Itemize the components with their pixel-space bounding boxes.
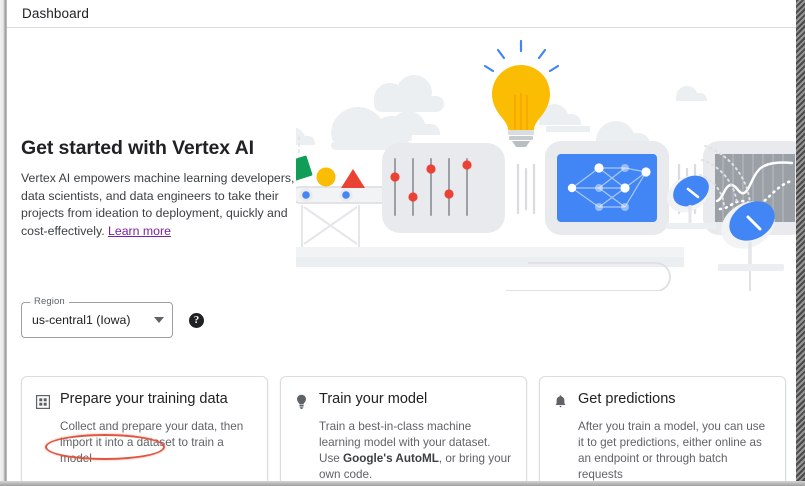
- signal-arcs-icon: [700, 146, 750, 205]
- conveyor-belt-icon: [296, 187, 398, 250]
- card-title: Prepare your training data: [60, 390, 228, 409]
- connector-bars-1: [518, 165, 534, 213]
- chart-panel-icon: [703, 141, 796, 235]
- card-title: Get predictions: [578, 390, 676, 409]
- card-head: Prepare your training data: [35, 390, 252, 410]
- card-title: Train your model: [319, 390, 427, 409]
- cloud-right-icon: [539, 104, 581, 125]
- card-body: Prepare your training data Collect and p…: [22, 377, 267, 481]
- hero-text-block: Get started with Vertex AI Vertex AI emp…: [21, 137, 297, 240]
- help-question-icon[interactable]: ?: [189, 313, 204, 328]
- lightbulb-icon: [492, 65, 550, 147]
- red-triangle-shape: [341, 169, 365, 188]
- card-head: Get predictions: [553, 390, 770, 410]
- card-description: Train a best-in-class machine learning m…: [319, 419, 511, 481]
- bell-icon: [553, 393, 568, 410]
- region-selected-value: us-central1 (Iowa): [32, 313, 154, 327]
- lightbulb-rays-icon: [485, 41, 558, 71]
- window-bottom-edge: [0, 481, 805, 486]
- cloud-large-icon: [331, 107, 412, 141]
- green-diamond-shape: [296, 155, 313, 181]
- satellite-dish-large-icon: [713, 192, 784, 271]
- card-description: After you train a model, you can use it …: [578, 419, 770, 481]
- table-grid-icon: [35, 393, 50, 410]
- vertex-ai-dashboard-page: Dashboard Get started with Vertex AI Ver…: [0, 0, 805, 486]
- region-selector-row: Region us-central1 (Iowa) ?: [7, 291, 796, 349]
- window-left-edge: [0, 0, 7, 486]
- region-select[interactable]: Region us-central1 (Iowa): [21, 302, 173, 338]
- learn-more-link[interactable]: Learn more: [108, 224, 171, 238]
- neural-network-panel-icon: [545, 141, 669, 235]
- page-title: Dashboard: [7, 6, 89, 21]
- card-body: Get predictions After you train a model,…: [540, 377, 785, 481]
- card-get-predictions: Get predictions After you train a model,…: [539, 376, 786, 481]
- window-right-edge: [796, 0, 805, 486]
- cloud-shapes-icon: [306, 75, 444, 229]
- card-head: Train your model: [294, 390, 511, 410]
- card-description-bold: Google's AutoML: [343, 452, 439, 465]
- lightbulb-icon: [294, 393, 309, 410]
- card-body: Train your model Train a best-in-class m…: [281, 377, 526, 481]
- chevron-down-icon: [154, 317, 164, 323]
- satellite-dish-small-icon: [660, 168, 716, 229]
- getting-started-cards: Prepare your training data Collect and p…: [21, 376, 787, 481]
- hero-section: Get started with Vertex AI Vertex AI emp…: [7, 29, 796, 291]
- wire-path-1: [506, 263, 670, 291]
- wire-path-2: [520, 271, 750, 291]
- platform-base: [296, 247, 684, 263]
- card-train-your-model: Train your model Train a best-in-class m…: [280, 376, 527, 481]
- hero-description: Vertex AI empowers machine learning deve…: [21, 170, 297, 240]
- card-description: Collect and prepare your data, then impo…: [60, 419, 252, 467]
- connector-bars-2: [679, 165, 695, 213]
- yellow-circle-shape: [317, 168, 336, 187]
- dashboard-content: Get started with Vertex AI Vertex AI emp…: [7, 29, 796, 481]
- vertex-ai-pipeline-illustration: [296, 29, 796, 291]
- hero-title: Get started with Vertex AI: [21, 137, 297, 160]
- region-label: Region: [30, 296, 69, 307]
- card-prepare-training-data: Prepare your training data Collect and p…: [21, 376, 268, 481]
- page-header-bar: Dashboard: [7, 0, 796, 28]
- sliders-panel-icon: [382, 143, 505, 233]
